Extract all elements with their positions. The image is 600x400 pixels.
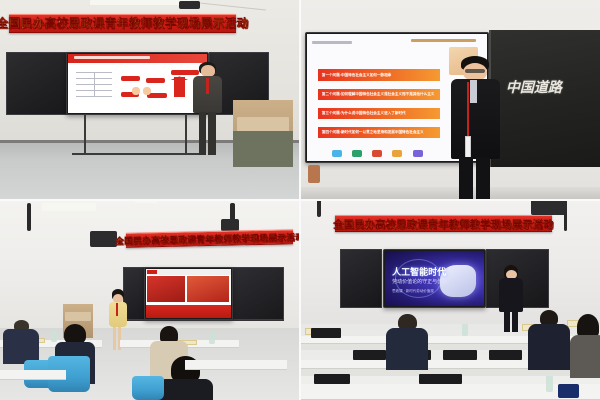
desk-monitor[interactable] — [353, 350, 386, 360]
water-bottle — [546, 376, 554, 392]
glasses — [465, 69, 485, 73]
chair[interactable] — [132, 376, 165, 400]
screen-stand-left — [84, 115, 86, 155]
slide-tag: 思政课 · 新时代劳动价值观 — [392, 289, 434, 294]
slide-caption-strip — [146, 305, 232, 318]
mount-rod — [317, 199, 321, 217]
screen-stand-right — [185, 115, 187, 155]
note-icon[interactable] — [392, 150, 402, 156]
desk — [185, 360, 287, 370]
screen-base — [72, 153, 204, 155]
writing-board-left — [340, 249, 382, 307]
desk-monitor[interactable] — [443, 350, 476, 360]
interactive-display[interactable] — [144, 267, 234, 319]
ceiling-speaker — [179, 1, 200, 9]
interactive-display[interactable]: 人工智能时代 劳动价值论的守正与创新 思政课 · 新时代劳动价值观 — [383, 249, 485, 307]
folder-icon[interactable] — [352, 150, 362, 156]
chalkboard: 中国道路 — [489, 30, 600, 167]
ceiling-light — [90, 0, 192, 5]
slide-photo-right — [187, 276, 230, 302]
ceiling-light — [42, 203, 96, 211]
desk-monitor[interactable] — [489, 350, 522, 360]
slide-bubble — [146, 78, 166, 83]
projector — [90, 231, 117, 247]
slide-item-1: 第一个问题:中国特色社会主义如何一脉相承 — [318, 69, 440, 80]
wall-speaker — [531, 199, 567, 215]
slide-ai-theme: 人工智能时代 劳动价值论的守正与创新 思政课 · 新时代劳动价值观 — [385, 251, 483, 305]
mount-rod — [27, 203, 31, 231]
slide-logo — [147, 270, 156, 274]
audience-member — [570, 314, 600, 378]
ppt-icon[interactable] — [372, 150, 382, 156]
event-banner: 全国民办高校思政课青年教师教学现场展示活动 — [335, 215, 552, 232]
podium-nameplate — [65, 312, 91, 321]
slide-bubble — [147, 93, 167, 98]
slide-title-rule — [411, 39, 476, 42]
screen-rail — [123, 320, 284, 322]
slide-body — [68, 63, 208, 113]
audience-member — [528, 310, 570, 370]
slide-news-montage — [146, 269, 232, 317]
panel-top-left: 全国民办高校思政课青年教师教学现场展示活动 — [0, 0, 299, 199]
phone-device[interactable] — [558, 384, 579, 398]
slide-toolbar — [146, 269, 232, 274]
event-banner-text: 全国民办高校思政课青年教师教学现场展示活动 — [333, 216, 554, 231]
desk-monitor[interactable] — [314, 374, 350, 384]
lanyard — [116, 303, 118, 316]
wall-hook — [308, 165, 320, 183]
slide-item-4: 第四个问题:新时代如何一以贯之地坚持和发展中国特色社会主义 — [318, 127, 440, 138]
media-icon[interactable] — [413, 150, 423, 156]
slide-subtitle: 劳动价值论的守正与创新 — [392, 278, 447, 285]
slide-photo-left — [147, 276, 185, 302]
desk-monitor[interactable] — [419, 374, 461, 384]
chalkboard-calligraphy: 中国道路 — [506, 77, 562, 97]
slide-item-3: 第三个问题:为什么说中国特色社会主义进入了新时代 — [318, 108, 440, 119]
audience-member — [386, 314, 428, 370]
writing-board-right — [230, 267, 284, 319]
panel-top-right: 第一个问题:中国特色社会主义如何一脉相承 第二个问题:如何理解中国特色社会主义是… — [299, 0, 600, 199]
writing-board-left — [6, 52, 69, 116]
slide-bubble — [121, 76, 141, 81]
presenter — [498, 265, 525, 331]
photo-collage: 全国民办高校思政课青年教师教学现场展示活动 — [0, 0, 600, 400]
browser-icon[interactable] — [332, 150, 342, 156]
event-banner-text: 全国民办高校思政课青年教师教学现场展示活动 — [0, 15, 249, 31]
wall-speaker — [221, 219, 239, 231]
podium-front — [233, 131, 293, 167]
water-bottle — [209, 332, 215, 344]
interactive-display[interactable] — [66, 52, 210, 116]
slide-title: 人工智能时代 — [392, 265, 446, 278]
desk-row-3 — [299, 384, 600, 400]
grid-seam-horizontal — [0, 199, 600, 201]
slide-discussion — [68, 54, 208, 114]
audience-member — [3, 320, 39, 364]
desk — [0, 370, 66, 380]
slide-header-bar — [68, 54, 208, 64]
mount-rod — [564, 209, 568, 231]
water-bottle — [462, 324, 468, 336]
presenter — [450, 56, 501, 199]
desk-monitor[interactable] — [311, 328, 341, 338]
event-banner-text: 全国民办高校思政课青年教师教学现场展示活动 — [115, 231, 299, 247]
panel-bottom-left: 全国民办高校思政课青年教师教学现场展示活动 — [0, 199, 299, 400]
panel-bottom-right: 全国民办高校思政课青年教师教学现场展示活动 人工智能时代 劳动价值论的守正与创新… — [299, 199, 600, 400]
slide-left-rule — [312, 41, 352, 44]
presenter — [191, 62, 224, 156]
event-banner: 全国民办高校思政课青年教师教学现场展示活动 — [9, 14, 236, 33]
slide-item-2: 第二个问题:如何理解中国特色社会主义是社会主义而不是其他什么主义 — [318, 89, 440, 100]
lanyard — [467, 82, 469, 139]
